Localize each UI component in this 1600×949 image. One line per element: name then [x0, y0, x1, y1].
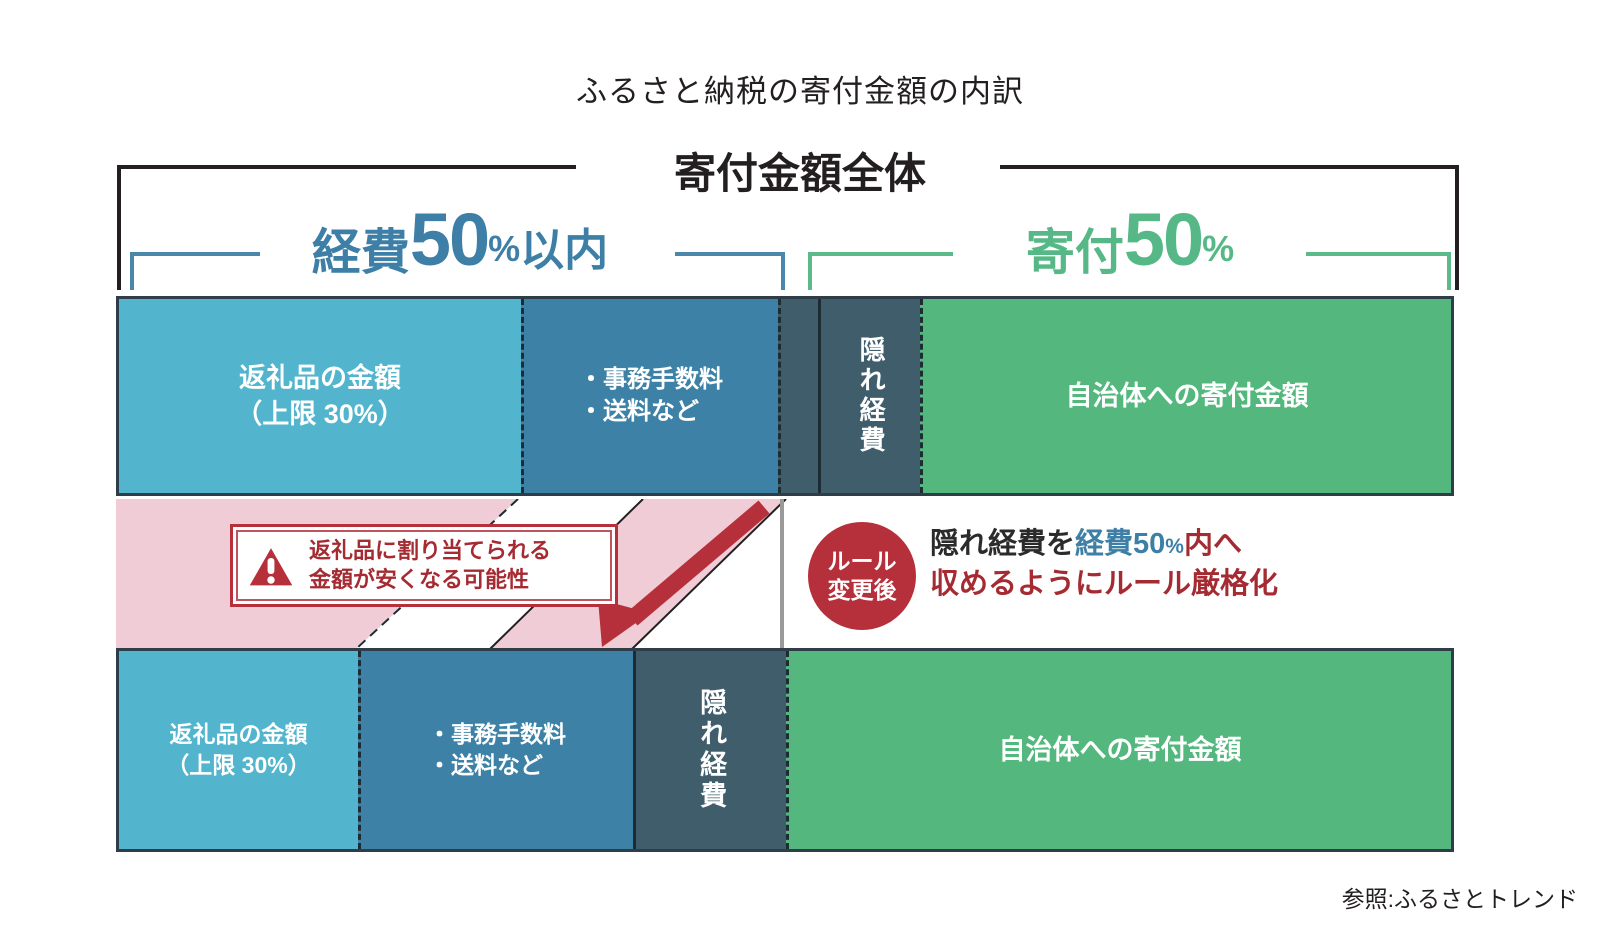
- segment-reward-bottom-label: 返礼品の金額 （上限 30%）: [166, 719, 310, 781]
- donation-percent-label: 寄付50%: [880, 203, 1380, 278]
- donation-label-word: 寄付: [1026, 226, 1124, 280]
- bar-current: 返礼品の金額 （上限 30%） ・事務手数料 ・送料など 隠れ経費 自治体への寄…: [116, 296, 1454, 496]
- page-title: ふるさと納税の寄付金額の内訳: [0, 66, 1600, 111]
- segment-fees-top-label: ・事務手数料 ・送料など: [579, 364, 723, 429]
- segment-fees-top: ・事務手数料 ・送料など: [521, 299, 778, 493]
- expense-bracket-right-tick: [781, 252, 785, 290]
- expense-bracket-left-tick: [130, 252, 134, 290]
- segment-donation-top-label: 自治体への寄付金額: [1066, 378, 1309, 414]
- segment-hidden-cost-top: 隠れ経費: [818, 299, 920, 493]
- infographic-canvas: ふるさと納税の寄付金額の内訳 寄付金額全体 経費50%以内 寄付50% 返礼品の…: [0, 0, 1600, 949]
- donation-label-number: 50: [1124, 198, 1202, 281]
- rule-change-note-line1: 隠れ経費を経費50%内へ: [930, 524, 1450, 564]
- segment-donation-top: 自治体への寄付金額: [920, 299, 1451, 493]
- segment-reward-bottom: 返礼品の金額 （上限 30%）: [119, 651, 358, 849]
- segment-hidden-cost-top-label: 隠れ経費: [857, 336, 884, 456]
- rule-change-badge: ルール 変更後: [808, 522, 916, 630]
- expense-percent-label: 経費50%以内: [200, 203, 720, 278]
- segment-donation-bottom-label: 自治体への寄付金額: [999, 732, 1242, 768]
- donation-bracket-left-tick: [808, 252, 812, 290]
- expense-label-word: 経費: [312, 226, 410, 280]
- expense-label-suffix: 以内: [520, 226, 608, 275]
- segment-reward-top: 返礼品の金額 （上限 30%）: [119, 299, 521, 493]
- rule-note-blue-percent: %: [1165, 535, 1184, 558]
- source-note: 参照:ふるさとトレンド: [1342, 880, 1578, 914]
- segment-gap-top: [778, 299, 818, 493]
- rule-note-red-inline: 内へ: [1184, 528, 1242, 560]
- donation-label-percent: %: [1202, 228, 1234, 269]
- segment-hidden-cost-bottom: 隠れ経費: [633, 651, 786, 849]
- segment-donation-bottom: 自治体への寄付金額: [786, 651, 1451, 849]
- segment-fees-bottom: ・事務手数料 ・送料など: [358, 651, 633, 849]
- donation-bracket-right-tick: [1447, 252, 1451, 290]
- rule-change-note: 隠れ経費を経費50%内へ 収めるようにルール厳格化: [930, 524, 1450, 604]
- segment-hidden-cost-bottom-label: 隠れ経費: [697, 688, 725, 812]
- rule-note-blue: 経費50: [1075, 528, 1165, 560]
- warning-callout-text: 返礼品に割り当てられる 金額が安くなる可能性: [309, 537, 551, 593]
- rule-note-dark: 隠れ経費を: [930, 528, 1075, 560]
- segment-reward-top-label: 返礼品の金額 （上限 30%）: [235, 360, 405, 433]
- rule-change-note-line2: 収めるようにルール厳格化: [930, 564, 1450, 604]
- warning-callout: 返礼品に割り当てられる 金額が安くなる可能性: [230, 524, 618, 607]
- overall-label: 寄付金額全体: [0, 140, 1600, 201]
- expense-label-percent: %: [488, 228, 520, 269]
- bar-after-rule-change: 返礼品の金額 （上限 30%） ・事務手数料 ・送料など 隠れ経費 自治体への寄…: [116, 648, 1454, 852]
- segment-fees-bottom-label: ・事務手数料 ・送料など: [428, 719, 566, 781]
- expense-label-number: 50: [410, 198, 488, 281]
- warning-triangle-icon: [245, 542, 297, 590]
